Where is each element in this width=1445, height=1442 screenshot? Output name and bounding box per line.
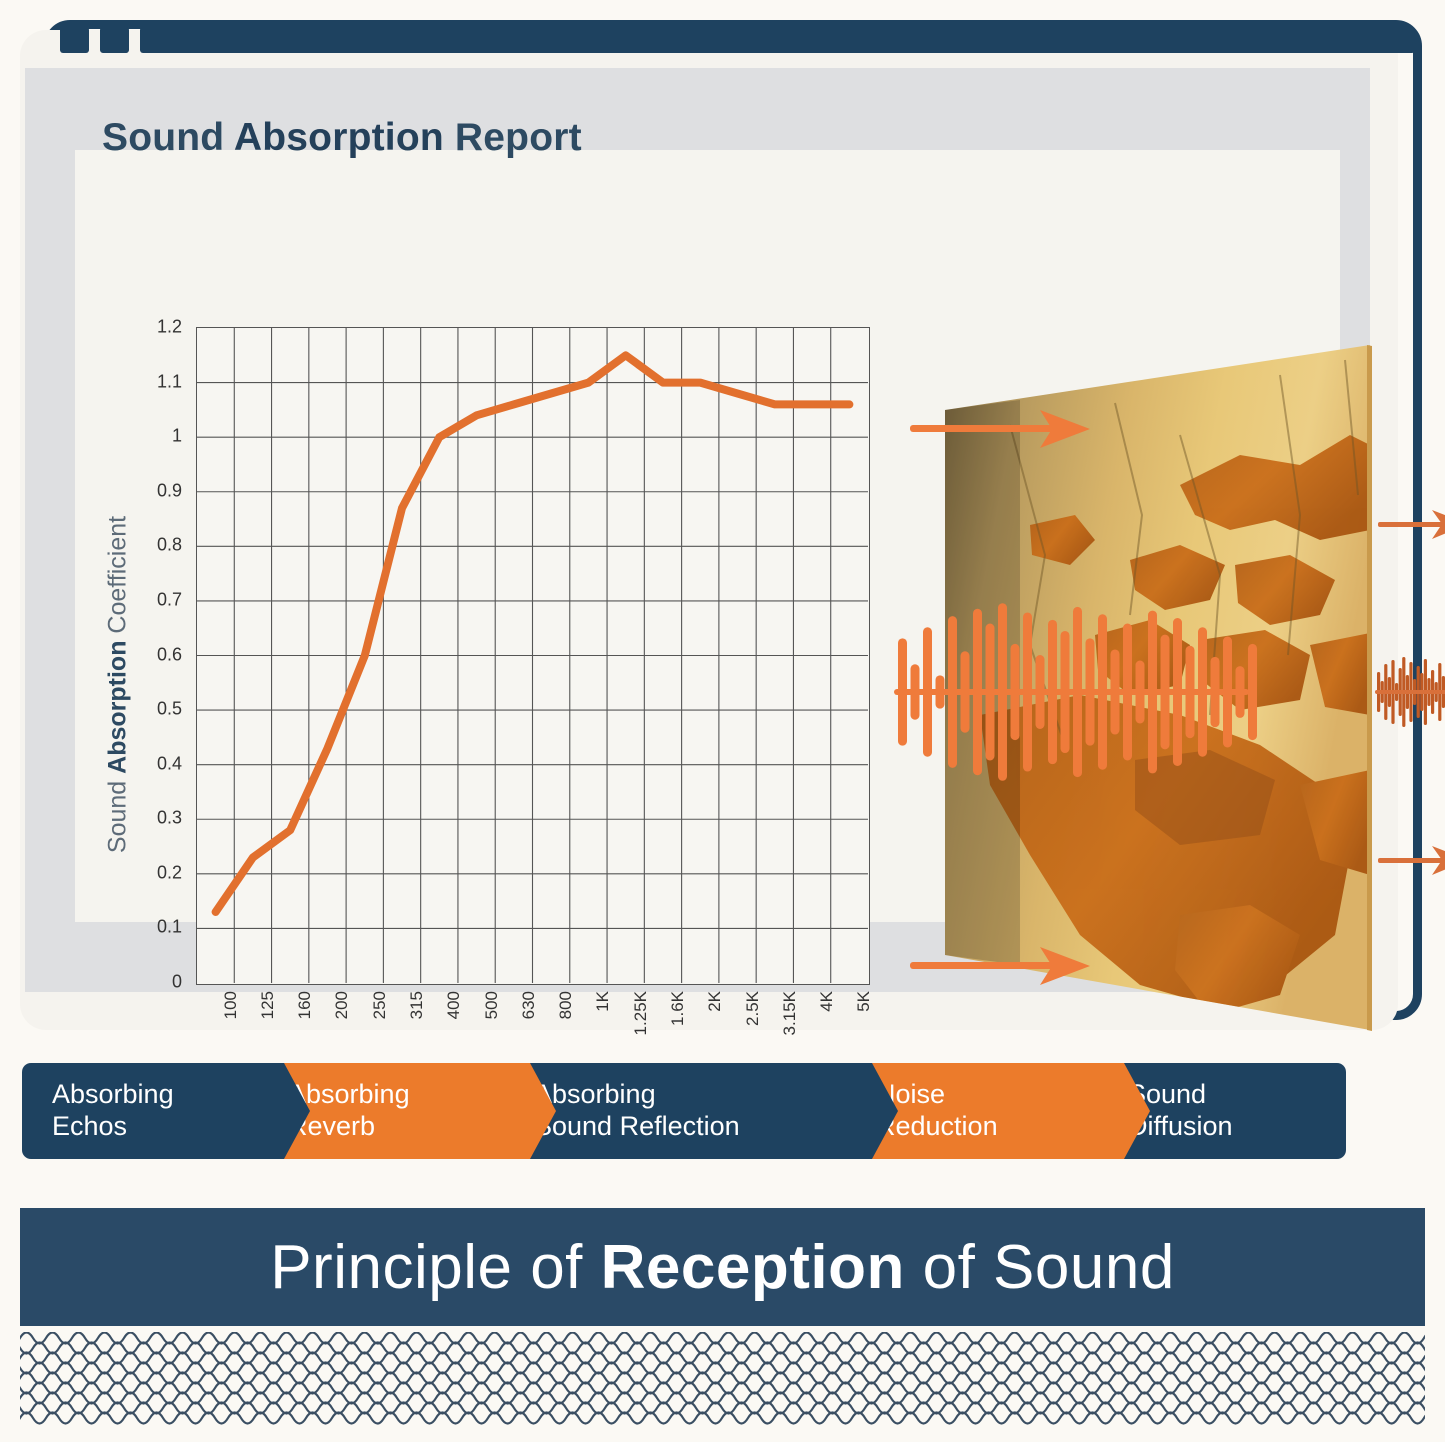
- wave-pattern-svg: [20, 1332, 1425, 1428]
- y-axis-title-bold: Absorption: [104, 641, 132, 774]
- page-title: Sound Absorption Report: [102, 116, 582, 160]
- y-axis-title-pre: Sound: [104, 774, 132, 853]
- banner-pre: Principle of: [270, 1233, 600, 1302]
- chart-plot-area: [196, 327, 870, 985]
- x-axis-tick: 200: [332, 991, 352, 1019]
- x-axis-tick: 630: [519, 991, 539, 1019]
- wave-pattern-decoration: [20, 1332, 1425, 1428]
- feature-tag-line2: Sound Reflection: [534, 1111, 872, 1143]
- feature-tag-line1: Absorbing: [52, 1079, 284, 1111]
- x-axis-tick: 2K: [705, 991, 725, 1012]
- incident-waveform-axis: [894, 689, 1249, 695]
- feature-tag-line2: Diffusion: [1128, 1111, 1346, 1143]
- x-axis-tick: 125: [258, 991, 278, 1019]
- banner-bold: Reception: [601, 1233, 905, 1302]
- absorption-line-chart: [197, 328, 868, 983]
- y-axis-tick: 1.2: [157, 317, 182, 338]
- window-title-bar-icon: [140, 27, 1415, 53]
- x-axis-tick: 160: [295, 991, 315, 1019]
- y-axis-tick: 1: [172, 426, 182, 447]
- banner-title: Principle of Reception of Sound: [270, 1232, 1175, 1303]
- feature-tag-line1: Absorbing: [288, 1079, 530, 1111]
- feature-tag-line1: Absorbing: [534, 1079, 872, 1111]
- feature-tag-row: AbsorbingEchosAbsorbingReverbAbsorbingSo…: [22, 1063, 1422, 1159]
- y-axis-title: Sound Absorption Coefficient: [104, 450, 133, 920]
- y-axis-title-post: Coefficient: [104, 516, 132, 641]
- x-axis-tick: 400: [444, 991, 464, 1019]
- y-axis-tick: 0.6: [157, 644, 182, 665]
- title-bold: Absorption: [234, 116, 444, 159]
- x-axis-tick: 3.15K: [780, 991, 800, 1035]
- y-axis-tick: 0.7: [157, 589, 182, 610]
- y-axis-tick: 1.1: [157, 371, 182, 392]
- outgoing-arrow-top: [1378, 510, 1445, 539]
- window-square-1-icon: [60, 27, 89, 53]
- y-axis-tick: 0.9: [157, 480, 182, 501]
- chart-container: Sound Absorption Coefficient 00.10.20.30…: [75, 150, 1340, 922]
- feature-tag-line1: Sound: [1128, 1079, 1346, 1111]
- y-axis-tick-labels: 00.10.20.30.40.50.60.70.80.911.11.2: [135, 327, 190, 985]
- x-axis-tick: 5K: [854, 991, 874, 1012]
- feature-tag-line2: Reverb: [288, 1111, 530, 1143]
- feature-tag-1[interactable]: AbsorbingEchos: [22, 1063, 284, 1159]
- x-axis-tick: 500: [482, 991, 502, 1019]
- x-axis-tick: 250: [370, 991, 390, 1019]
- title-post: Report: [444, 116, 582, 159]
- feature-tag-line1: Noise: [876, 1079, 1124, 1111]
- acoustic-panel-illustration: [880, 315, 1445, 1075]
- x-axis-tick: 4K: [817, 991, 837, 1012]
- x-axis-tick: 1K: [593, 991, 613, 1012]
- panel-edge: [1367, 345, 1372, 1031]
- x-axis-tick: 1.25K: [631, 991, 651, 1035]
- x-axis-tick: 315: [407, 991, 427, 1019]
- feature-tag-3[interactable]: AbsorbingSound Reflection: [504, 1063, 872, 1159]
- y-axis-tick: 0.3: [157, 808, 182, 829]
- x-axis-tick: 800: [556, 991, 576, 1019]
- transmitted-waveform-axis: [1375, 690, 1445, 694]
- y-axis-tick: 0.8: [157, 535, 182, 556]
- bottom-banner: Principle of Reception of Sound: [20, 1208, 1425, 1326]
- y-axis-tick: 0.1: [157, 917, 182, 938]
- y-axis-tick: 0: [172, 972, 182, 993]
- window-decoration-bar: [60, 27, 1415, 53]
- x-axis-tick: 100: [221, 991, 241, 1019]
- y-axis-tick: 0.4: [157, 753, 182, 774]
- x-axis-tick: 2.5K: [743, 991, 763, 1026]
- banner-post: of Sound: [905, 1233, 1175, 1302]
- feature-tag-line2: Echos: [52, 1111, 284, 1143]
- y-axis-tick: 0.2: [157, 862, 182, 883]
- title-pre: Sound: [102, 116, 234, 159]
- y-axis-tick: 0.5: [157, 699, 182, 720]
- outgoing-arrow-bottom: [1378, 846, 1445, 875]
- x-axis-tick: 1.6K: [668, 991, 688, 1026]
- feature-tag-line2: Reduction: [876, 1111, 1124, 1143]
- window-square-2-icon: [100, 27, 129, 53]
